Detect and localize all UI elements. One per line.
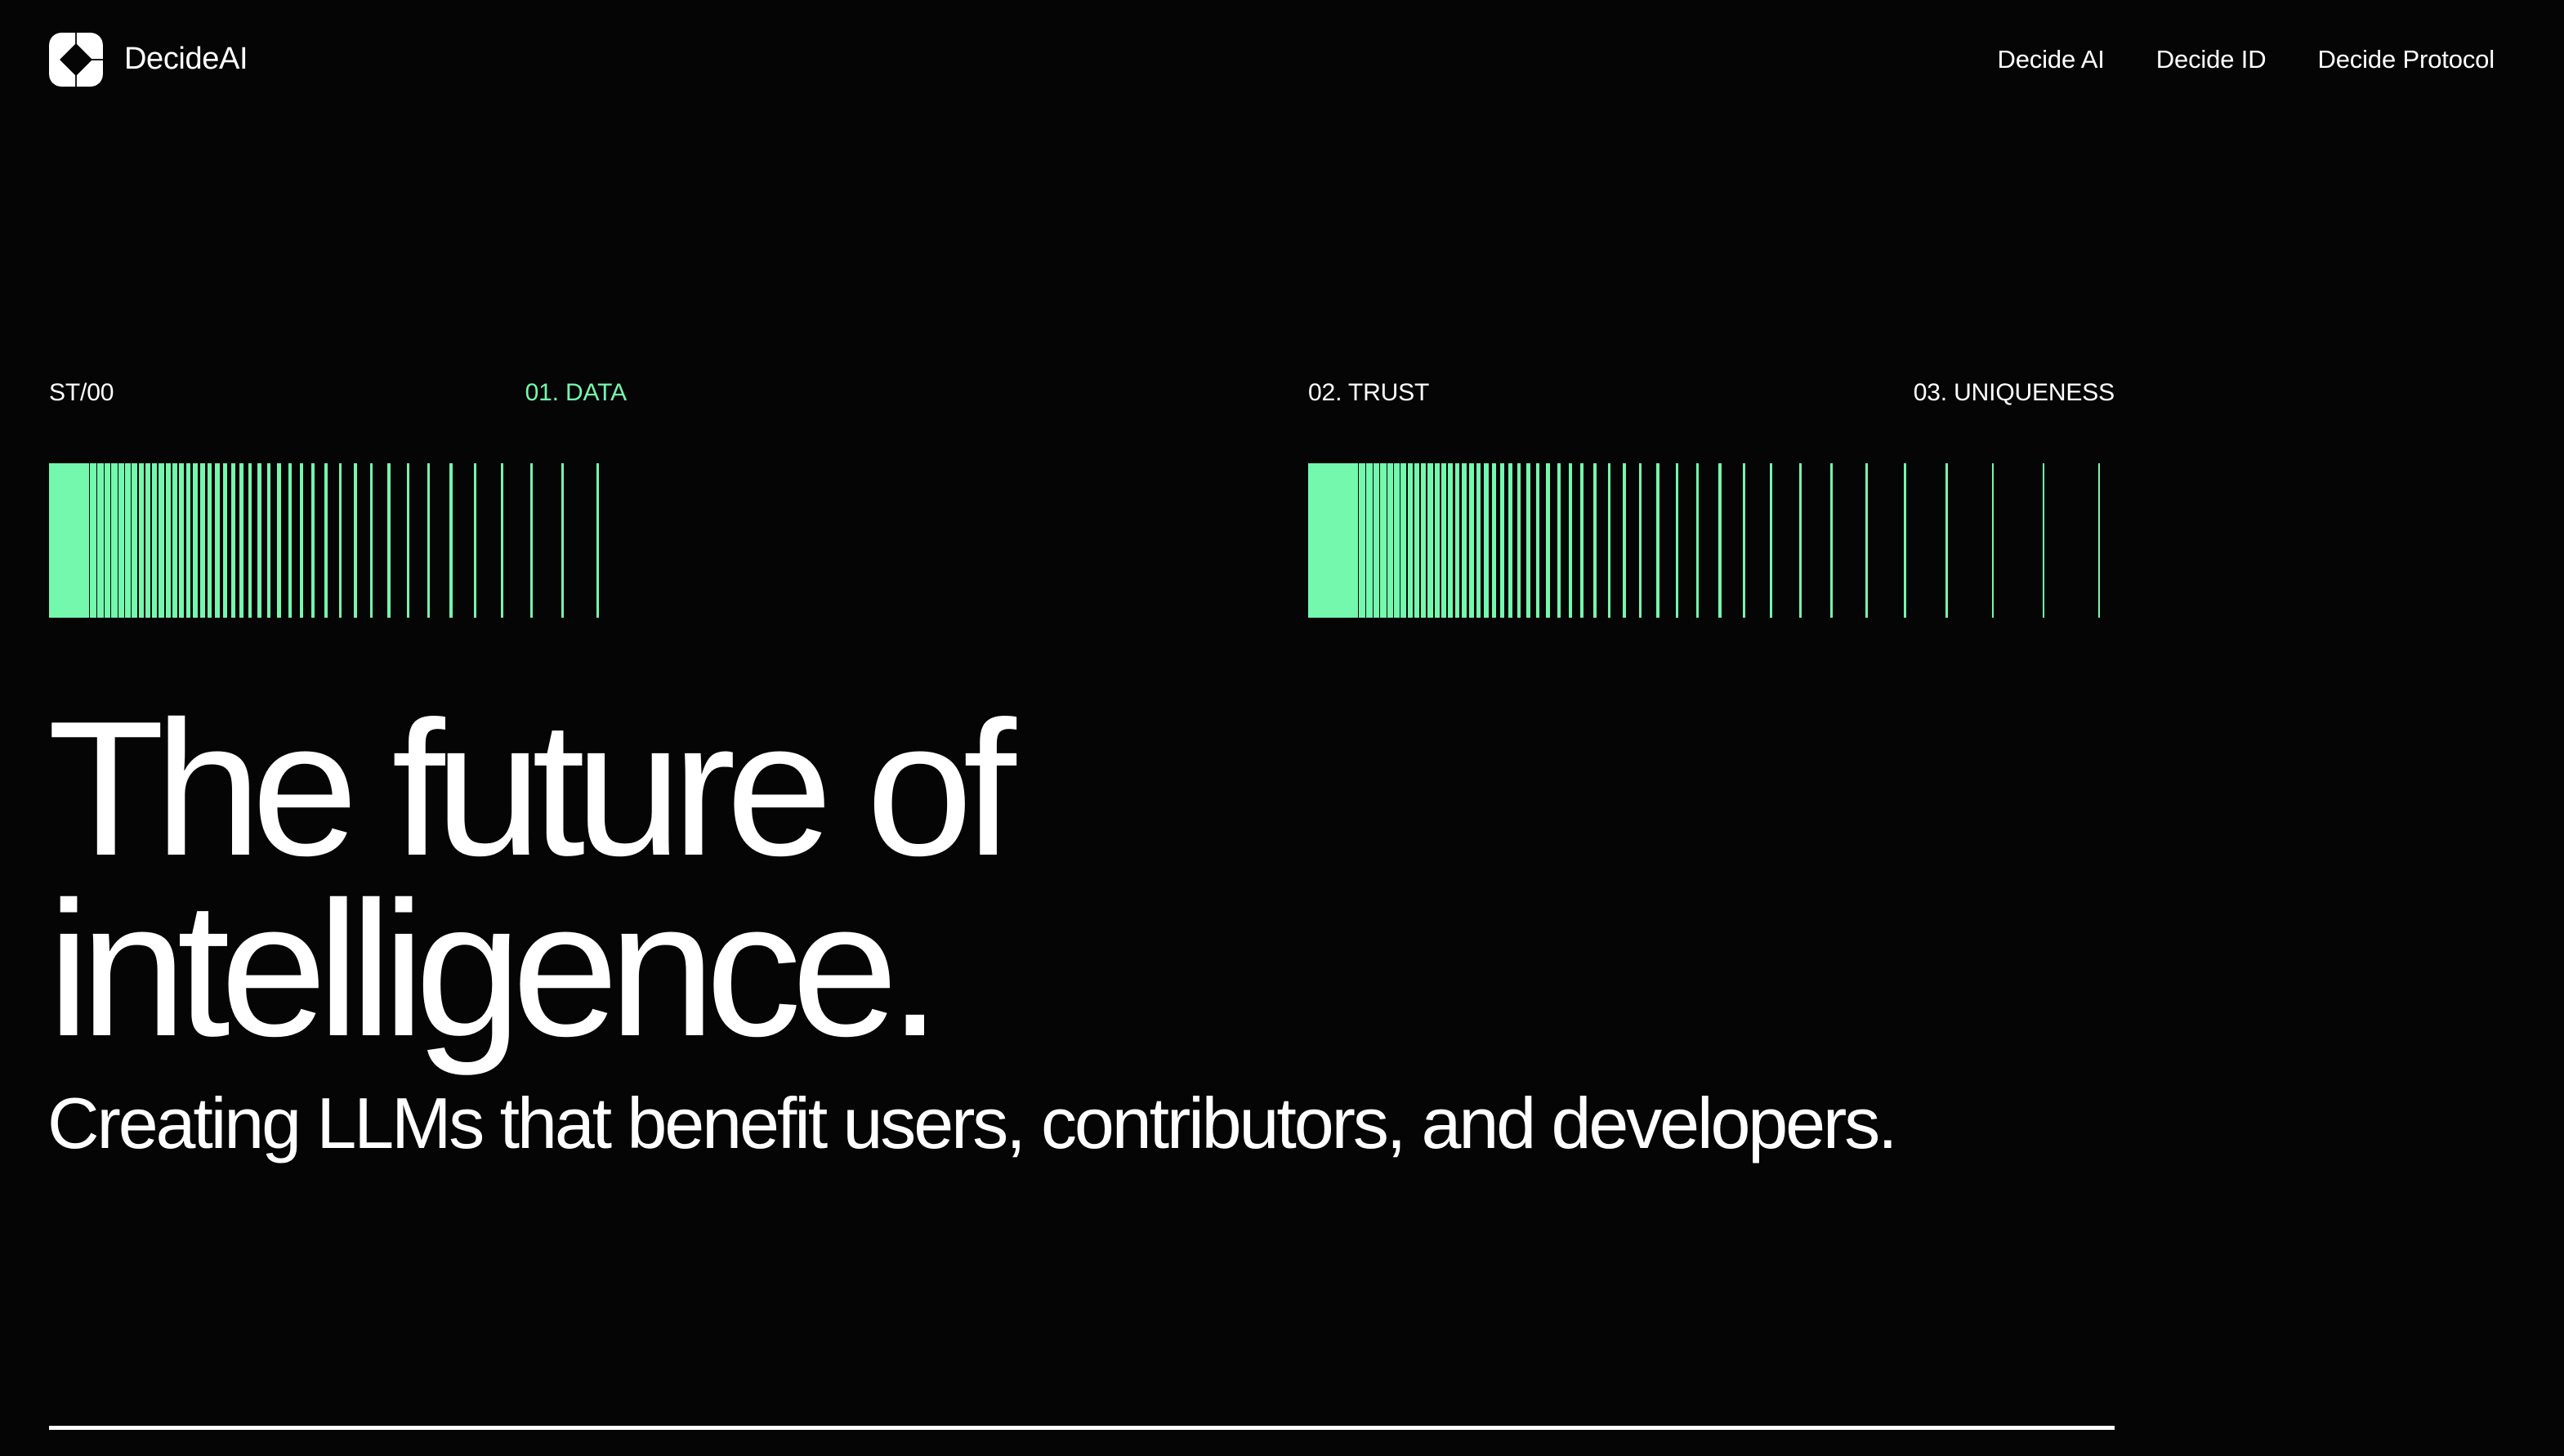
brand-name: DecideAI (124, 42, 248, 77)
stripe-bar (339, 463, 342, 618)
stripe-bar (1462, 463, 1467, 618)
stripe-bar (354, 463, 357, 618)
stripe-bar (1421, 463, 1426, 618)
stripe-bar (1308, 463, 1344, 618)
stripe-bar (1414, 463, 1420, 618)
stripe-bar (75, 463, 83, 618)
stripe-bar (427, 463, 430, 618)
stripe-graphic-one (49, 463, 627, 618)
stripe-bar (1593, 463, 1597, 618)
stat-strip-section: ST/00 01. DATA 02. TRUST 03. UNIQUENESS (49, 381, 2115, 618)
stripe-bar (1770, 463, 1772, 618)
hero-subtitle: Creating LLMs that benefit users, contri… (47, 1081, 2025, 1166)
stripe-bar (1492, 463, 1496, 618)
stripe-bar (200, 463, 204, 618)
stripe-bar (1374, 463, 1380, 618)
stripe-bar (97, 463, 104, 618)
stripe-bar (1380, 463, 1386, 618)
stripe-bar (1351, 463, 1358, 618)
stripe-bar (1743, 463, 1745, 618)
stripe-bar (231, 463, 235, 618)
nav-item-decide-id[interactable]: Decide ID (2156, 45, 2267, 74)
stripe-bar (324, 463, 328, 618)
stripe-bar (1799, 463, 1802, 618)
stripe-bar (1469, 463, 1473, 618)
stripe-bar (1830, 463, 1833, 618)
stripe-bar (1656, 463, 1659, 618)
stripe-bar (387, 463, 391, 618)
stripe-bar (223, 463, 227, 618)
stripe-bar (132, 463, 137, 618)
stripe-bar (215, 463, 219, 618)
stat-label-uniqueness: 03. UNIQUENESS (1914, 381, 2115, 405)
stat-label-trust: 02. TRUST (1308, 381, 1429, 405)
stripe-bar (1718, 463, 1721, 618)
stripe-bar (1546, 463, 1549, 618)
stripe-bar (208, 463, 212, 618)
stripe-bar (1441, 463, 1446, 618)
stripe-bar (1696, 463, 1699, 618)
stripe-bar (159, 463, 163, 618)
stripe-bar (1476, 463, 1481, 618)
stripe-bar (474, 463, 476, 618)
stripe-bar (1435, 463, 1440, 618)
stripe-bar (1359, 463, 1365, 618)
stripe-bar (125, 463, 131, 618)
stripe-bar (111, 463, 117, 618)
stripe-bar (407, 463, 409, 618)
stripe-bar (1455, 463, 1460, 618)
stat-label-data: 01. DATA (525, 381, 627, 405)
nav-item-decide-protocol[interactable]: Decide Protocol (2317, 45, 2495, 74)
stripe-bar (277, 463, 280, 618)
stripe-bar (1623, 463, 1626, 618)
stripe-bar (166, 463, 171, 618)
stripe-bar (239, 463, 243, 618)
stripe-bar (530, 463, 533, 618)
stripe-bar (449, 463, 452, 618)
nav-item-decide-ai[interactable]: Decide AI (1997, 45, 2104, 74)
decideai-diamond-logo-icon (49, 33, 103, 87)
stripe-bar (1500, 463, 1504, 618)
stripe-bar (118, 463, 124, 618)
stripe-bar (179, 463, 184, 618)
stripe-bar (1400, 463, 1406, 618)
stripe-bar (139, 463, 145, 618)
stripe-bar (1448, 463, 1453, 618)
stripe-bar (145, 463, 151, 618)
stat-group-two-labels: 02. TRUST 03. UNIQUENESS (1308, 381, 2115, 418)
stripe-bar (1484, 463, 1488, 618)
stripe-bar (1394, 463, 1400, 618)
stripe-bar (596, 463, 599, 618)
stat-group-one-labels: ST/00 01. DATA (49, 381, 627, 418)
stripe-bar (501, 463, 503, 618)
stripe-bar (49, 463, 75, 618)
stripe-bar (1904, 463, 1906, 618)
stripe-bar (1526, 463, 1530, 618)
stripe-bar (1608, 463, 1611, 618)
stripe-bar (311, 463, 315, 618)
stripe-bar (152, 463, 157, 618)
stripe-bar (257, 463, 261, 618)
site-header: DecideAI Decide AI Decide ID Decide Prot… (0, 0, 2564, 118)
stripe-bar (1366, 463, 1373, 618)
stripe-bar (300, 463, 303, 618)
stripe-bar (561, 463, 564, 618)
landing-page: DecideAI Decide AI Decide ID Decide Prot… (0, 0, 2564, 1456)
stat-group-one: ST/00 01. DATA (49, 381, 627, 618)
hero-title: The future ofintelligence. (47, 699, 2172, 1060)
stripe-bar (1945, 463, 1948, 618)
stripe-bar (90, 463, 96, 618)
stripe-bar (193, 463, 198, 618)
hero-divider-rule (49, 1426, 2115, 1430)
stripe-bar (83, 463, 89, 618)
stripe-bar (1865, 463, 1868, 618)
stripe-bar (1676, 463, 1678, 618)
stripe-bar (1992, 463, 1994, 618)
stripe-bar (370, 463, 373, 618)
stat-label-st00: ST/00 (49, 381, 114, 405)
stripe-bar (1639, 463, 1642, 618)
primary-navigation: Decide AI Decide ID Decide Protocol (1997, 45, 2515, 74)
brand-logo-link[interactable]: DecideAI (49, 33, 248, 87)
stripe-bar (186, 463, 191, 618)
stripe-bar (1536, 463, 1539, 618)
stripe-bar (267, 463, 270, 618)
stripe-bar (1557, 463, 1561, 618)
stripe-bar (288, 463, 292, 618)
stripe-bar (1427, 463, 1432, 618)
stat-group-two: 02. TRUST 03. UNIQUENESS (1308, 381, 2115, 618)
hero-title-line-2: intelligence. (47, 861, 931, 1076)
stripe-bar (2043, 463, 2045, 618)
stripe-bar (105, 463, 111, 618)
stripe-bar (248, 463, 252, 618)
stripe-bar (1508, 463, 1512, 618)
stripe-bar (1344, 463, 1351, 618)
stripe-bar (172, 463, 177, 618)
stripe-bar (1517, 463, 1521, 618)
stripe-bar (1580, 463, 1584, 618)
stripe-graphic-two (1308, 463, 2115, 618)
hero-section: The future ofintelligence. Creating LLMs… (47, 699, 2172, 1166)
stripe-bar (1408, 463, 1414, 618)
stripe-bar (2098, 463, 2101, 618)
stripe-bar (1569, 463, 1572, 618)
stripe-bar (1387, 463, 1393, 618)
